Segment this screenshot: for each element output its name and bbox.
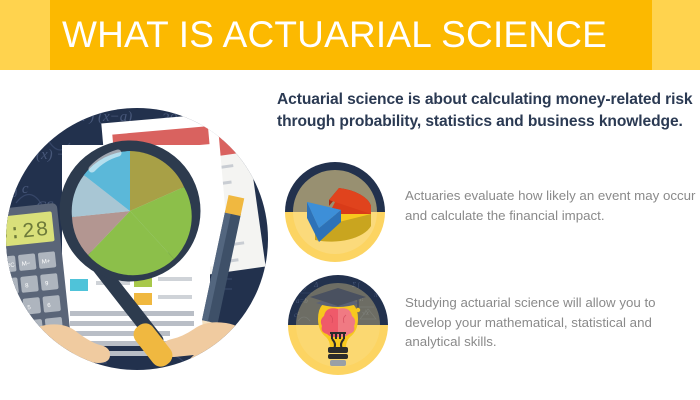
svg-text:x²+y: x²+y — [293, 283, 308, 291]
svg-text:7: 7 — [6, 285, 10, 291]
svg-text:(x₁ −: (x₁ − — [16, 343, 47, 359]
svg-text:π: π — [374, 291, 378, 299]
svg-text:M−: M− — [22, 261, 32, 268]
svg-text:4: 4 — [7, 307, 12, 313]
svg-text:2: 2 — [30, 327, 35, 333]
svg-text:.: . — [32, 349, 35, 355]
svg-text:M+: M+ — [42, 259, 52, 266]
lede-paragraph: Actuarial science is about calculating m… — [277, 89, 697, 133]
illustration-svg: a ) (x−a) h²(x) − sinh²(x) = ∫ c CS h² l… — [6, 83, 268, 395]
feature-row-1-text: Actuaries evaluate how likely an event m… — [405, 186, 697, 225]
page-title: WHAT IS ACTUARIAL SCIENCE — [62, 11, 662, 59]
svg-text:=: = — [52, 347, 57, 353]
pie-chart-icon — [285, 162, 385, 262]
magnifying-glass — [66, 147, 194, 275]
feature-row-2-text: Studying actuarial science will allow yo… — [405, 293, 697, 352]
lightbulb-brain-graduation-icon: x²+y Σ ∫ a=b n! c² √x Δ π — [288, 275, 388, 375]
svg-text:ƆƬ: ƆƬ — [36, 367, 56, 383]
svg-text:Co: Co — [102, 367, 120, 383]
svg-text:∫ c: ∫ c — [13, 181, 29, 197]
svg-text:0: 0 — [12, 351, 17, 357]
svg-text:Δ: Δ — [313, 281, 318, 289]
svg-text:Πn: Πn — [123, 371, 142, 387]
infographic-page: WHAT IS ACTUARIAL SCIENCE — [0, 0, 700, 400]
illustration-actuary-desk: a ) (x−a) h²(x) − sinh²(x) = ∫ c CS h² l… — [6, 83, 268, 398]
svg-text:1: 1 — [10, 329, 15, 335]
